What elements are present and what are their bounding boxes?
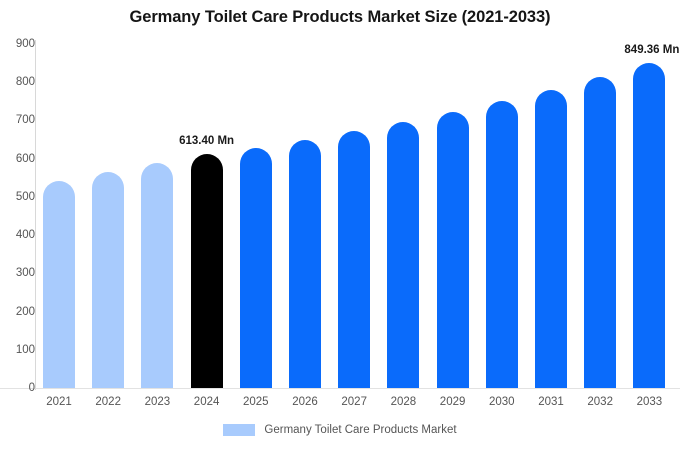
plot-area: 613.40 Mn849.36 Mn — [35, 44, 680, 388]
x-axis-tick-2025: 2025 — [233, 396, 279, 408]
bar-2021[interactable] — [43, 181, 75, 388]
bar-value-label-2024: 613.40 Mn — [179, 135, 234, 147]
y-axis-tick-200: 200 — [0, 306, 35, 318]
bar-slot-2025 — [240, 44, 272, 388]
bar-2024[interactable] — [191, 154, 223, 388]
bar-2027[interactable] — [338, 131, 370, 388]
y-axis-tick-900: 900 — [0, 38, 35, 50]
x-axis-tick-2032: 2032 — [577, 396, 623, 408]
x-axis-tick-2023: 2023 — [134, 396, 180, 408]
bar-slot-2026 — [289, 44, 321, 388]
y-axis-tick-500: 500 — [0, 191, 35, 203]
x-axis-line — [0, 388, 680, 389]
y-axis-tick-300: 300 — [0, 267, 35, 279]
bar-slot-2028 — [387, 44, 419, 388]
x-axis-tick-2028: 2028 — [380, 396, 426, 408]
x-axis-tick-2021: 2021 — [36, 396, 82, 408]
bar-2029[interactable] — [437, 112, 469, 388]
bar-slot-2021 — [43, 44, 75, 388]
bar-slot-2027 — [338, 44, 370, 388]
y-axis-tick-800: 800 — [0, 76, 35, 88]
y-axis-tick-400: 400 — [0, 229, 35, 241]
bar-slot-2029 — [437, 44, 469, 388]
x-axis-tick-2030: 2030 — [479, 396, 525, 408]
x-axis-tick-2027: 2027 — [331, 396, 377, 408]
bar-slot-2030 — [486, 44, 518, 388]
bar-slot-2032 — [584, 44, 616, 388]
bar-2031[interactable] — [535, 90, 567, 389]
x-axis-tick-2026: 2026 — [282, 396, 328, 408]
bar-slot-2023 — [141, 44, 173, 388]
y-axis-tick-100: 100 — [0, 344, 35, 356]
bar-slot-2022 — [92, 44, 124, 388]
y-axis-tick-0: 0 — [0, 382, 35, 394]
bar-2033[interactable] — [633, 63, 665, 388]
bar-slot-2031 — [535, 44, 567, 388]
x-axis-tick-2024: 2024 — [184, 396, 230, 408]
legend-label-germany-toilet-care-products-market: Germany Toilet Care Products Market — [264, 424, 456, 436]
chart-legend: Germany Toilet Care Products Market — [0, 424, 680, 436]
y-axis-tick-700: 700 — [0, 114, 35, 126]
bar-2025[interactable] — [240, 148, 272, 388]
legend-swatch-germany-toilet-care-products-market — [223, 424, 255, 436]
bar-2026[interactable] — [289, 140, 321, 388]
bar-2030[interactable] — [486, 101, 518, 388]
y-axis-tick-600: 600 — [0, 153, 35, 165]
x-axis-tick-2033: 2033 — [626, 396, 672, 408]
x-axis-tick-2029: 2029 — [430, 396, 476, 408]
bar-slot-2024: 613.40 Mn — [191, 44, 223, 388]
x-axis-tick-2022: 2022 — [85, 396, 131, 408]
chart-container: Germany Toilet Care Products Market Size… — [0, 0, 680, 450]
bar-2023[interactable] — [141, 163, 173, 388]
bar-2022[interactable] — [92, 172, 124, 388]
bar-2028[interactable] — [387, 122, 419, 388]
bar-slot-2033: 849.36 Mn — [633, 44, 665, 388]
bar-2032[interactable] — [584, 77, 616, 388]
x-axis-tick-2031: 2031 — [528, 396, 574, 408]
bar-value-label-2033: 849.36 Mn — [624, 44, 679, 56]
